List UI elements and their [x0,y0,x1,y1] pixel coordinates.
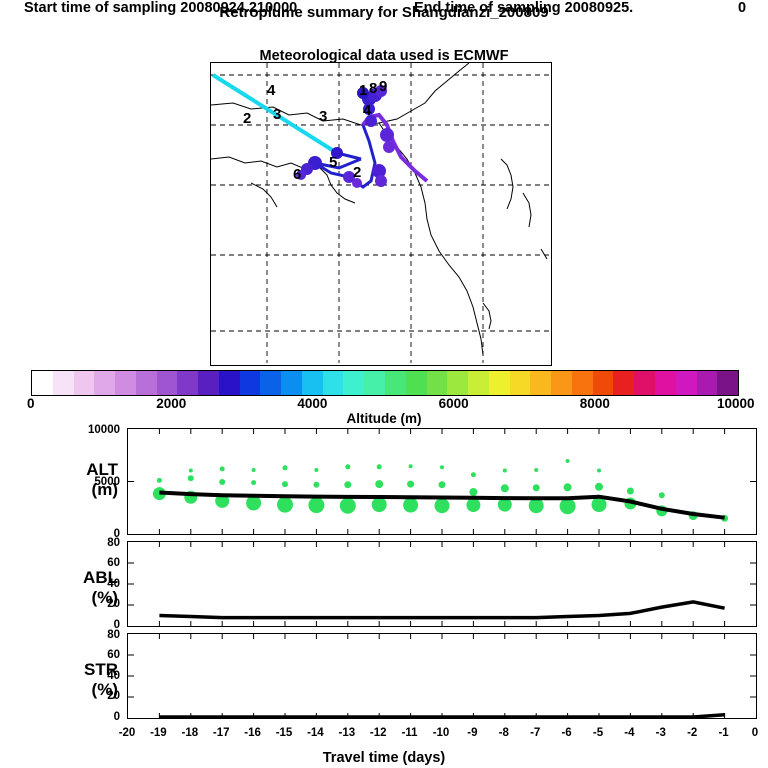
series-line [159,602,724,618]
abl-ytick-60: 60 [74,557,120,569]
svg-text:4: 4 [267,82,276,99]
colorbar-swatch [510,371,531,395]
svg-text:2: 2 [353,164,361,181]
colorbar-swatch [406,371,427,395]
alt-bubble [340,498,356,514]
str-panel [127,633,757,719]
alt-ytick-5000: 5000 [74,476,120,488]
alt-bubble [407,481,414,488]
colorbar-swatch [634,371,655,395]
colorbar-swatch [489,371,510,395]
svg-text:9: 9 [379,78,387,95]
str-ytick-40: 40 [74,670,120,682]
colorbar-swatch [157,371,178,395]
colorbar-swatch [572,371,593,395]
svg-text:6: 6 [293,166,301,183]
alt-bubble [375,480,383,488]
svg-text:3: 3 [273,106,281,123]
alt-bubble [435,498,450,513]
alt-bubble [252,468,256,472]
colorbar-swatch [468,371,489,395]
colorbar-swatch [136,371,157,395]
alt-bubble [469,488,477,496]
str-ytick-80: 80 [74,629,120,641]
colorbar-swatch [240,371,261,395]
alt-bubble [533,484,540,491]
alt-bubble [157,478,162,483]
alt-bubble [501,484,509,492]
alt-panel [127,428,757,535]
alt-bubble [314,468,318,472]
alt-bubble [566,459,570,463]
svg-text:2: 2 [243,110,251,127]
end-time-label: End time of sampling 20080925. [414,0,633,16]
colorbar-swatch [343,371,364,395]
alt-bubble [503,469,507,473]
x-axis-label: Travel time (days) [0,750,768,766]
alt-bubble [529,498,544,513]
alt-bubble [659,492,665,498]
colorbar-tick: 4000 [297,396,327,411]
alt-bubble [345,464,350,469]
colorbar-swatch [281,371,302,395]
alt-ytick-10000: 10000 [74,424,120,436]
colorbar-swatch [427,371,448,395]
colorbar-swatch [53,371,74,395]
svg-text:4: 4 [363,102,372,119]
alt-bubble [466,498,480,512]
alt-bubble [471,472,476,477]
str-ytick-0: 0 [74,711,120,723]
retroplume-map: 4 3 2 3 1 8 4 2 5 9 6 [210,62,552,366]
abl-ytick-40: 40 [74,578,120,590]
colorbar-swatch [177,371,198,395]
alt-bubble [277,497,293,513]
x-tick-label: 0 [735,727,768,739]
alt-bubble [595,483,603,491]
colorbar-swatch [302,371,323,395]
alt-bubble [403,498,418,513]
altitude-colorbar [31,370,739,396]
alt-bubble [283,465,288,470]
colorbar-tick: 6000 [439,396,469,411]
alt-bubble [220,466,225,471]
colorbar-swatch [94,371,115,395]
colorbar-tick: 10000 [717,396,755,411]
alt-bubble [597,469,601,473]
abl-ytick-20: 20 [74,598,120,610]
alt-bubble [282,481,288,487]
colorbar-swatch [551,371,572,395]
colorbar-tick: 8000 [580,396,610,411]
colorbar-swatch [260,371,281,395]
abl-ytick-80: 80 [74,537,120,549]
colorbar-swatch [530,371,551,395]
colorbar-swatch [385,371,406,395]
colorbar-swatch [447,371,468,395]
abl-panel [127,541,757,627]
colorbar-swatch [593,371,614,395]
colorbar-swatch [655,371,676,395]
colorbar-swatch [697,371,718,395]
alt-bubble [344,481,351,488]
colorbar-swatch [676,371,697,395]
alt-bubble [534,468,538,472]
colorbar-swatch [198,371,219,395]
colorbar-swatch [717,371,738,395]
colorbar-tick: 2000 [156,396,186,411]
svg-text:1: 1 [359,82,367,99]
svg-text:5: 5 [329,154,337,171]
start-time-label: Start time of sampling 20080924.210000 [24,0,297,16]
colorbar-swatch [115,371,136,395]
colorbar-tick: 0 [27,396,35,411]
alt-bubble [377,464,382,469]
alt-bubble [439,481,446,488]
svg-text:8: 8 [369,80,377,97]
alt-bubble [308,497,324,513]
colorbar-ticks: 0200040006000800010000 [0,396,768,412]
colorbar-swatch [364,371,385,395]
str-ytick-60: 60 [74,649,120,661]
colorbar-swatch [323,371,344,395]
alt-bubble [372,497,387,512]
svg-text:3: 3 [319,108,327,125]
alt-bubble [564,483,572,491]
alt-bubble [560,498,576,514]
alt-bubble [251,480,256,485]
alt-bubble [313,482,319,488]
alt-bubble [440,465,444,469]
alt-bubble [219,479,225,485]
end-time-value: 0 [738,0,746,16]
colorbar-swatch [613,371,634,395]
str-ytick-20: 20 [74,690,120,702]
alt-bubble [409,464,413,468]
alt-bubble [627,488,634,495]
colorbar-swatch [32,371,53,395]
alt-bubble [188,475,194,481]
colorbar-swatch [74,371,95,395]
colorbar-swatch [219,371,240,395]
alt-bubble [189,469,193,473]
